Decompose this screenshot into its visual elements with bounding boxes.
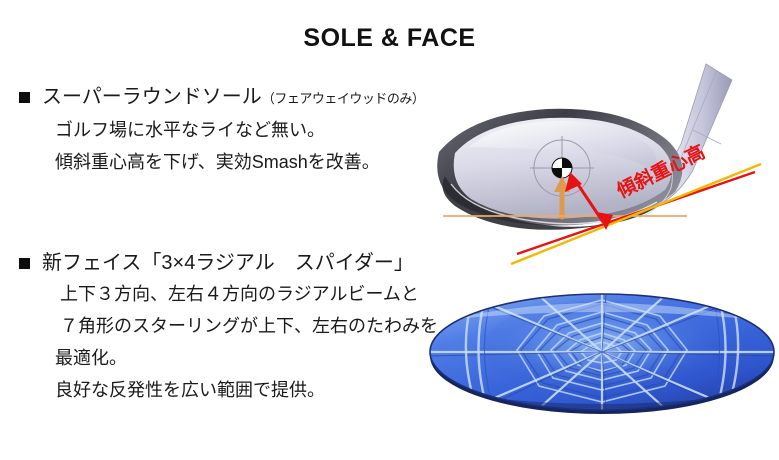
figure-radial-spider-face: [425, 280, 779, 430]
slide-root: SOLE & FACE スーパーラウンドソール（フェアウェイウッドのみ） ゴルフ…: [0, 0, 779, 460]
bullet-line: 傾斜重心高を下げ、実効Smashを改善。: [0, 146, 430, 178]
bullet-section-sole: スーパーラウンドソール（フェアウェイウッドのみ） ゴルフ場に水平なライなど無い。…: [0, 82, 430, 178]
page-title: SOLE & FACE: [0, 24, 779, 53]
bullet-heading-note: （フェアウェイウッドのみ）: [262, 91, 425, 106]
bullet-square-icon: [19, 92, 30, 103]
bullet-section-face: 新フェイス「3×4ラジアル スパイダー」 上下３方向、左右４方向のラジアルビーム…: [0, 248, 430, 406]
bullet-square-icon: [19, 258, 30, 269]
bullet-line: 最適化。: [0, 342, 430, 374]
bullet-heading-text: スーパーラウンドソール: [42, 86, 262, 108]
figure-golf-club-sole: 傾斜重心高: [425, 52, 779, 267]
bullet-heading-sole: スーパーラウンドソール（フェアウェイウッドのみ）: [0, 82, 430, 114]
bullet-line: ゴルフ場に水平なライなど無い。: [0, 114, 430, 146]
bullet-line: 良好な反発性を広い範囲で提供。: [0, 374, 430, 406]
bullet-line: 上下３方向、左右４方向のラジアルビームと: [0, 278, 430, 310]
bullet-line: ７角形のスターリングが上下、左右のたわみを: [0, 310, 430, 342]
bullet-heading-text: 新フェイス「3×4ラジアル スパイダー」: [42, 252, 414, 274]
bullet-heading-face: 新フェイス「3×4ラジアル スパイダー」: [0, 248, 430, 278]
